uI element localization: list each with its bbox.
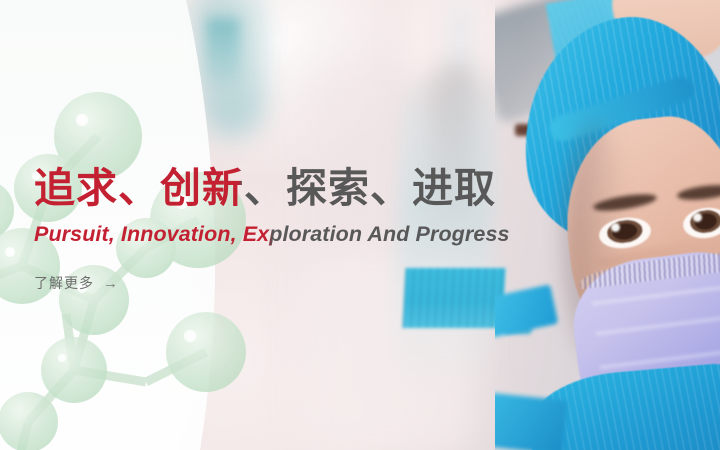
eye-highlight-right xyxy=(693,213,702,222)
eye-highlight-left xyxy=(611,223,620,232)
page-subtitle: Pursuit, Innovation, Exploration And Pro… xyxy=(34,222,594,247)
arrow-right-icon: → xyxy=(103,276,119,291)
hero-content: 追求、创新、探索、进取 Pursuit, Innovation, Explora… xyxy=(34,164,594,293)
hero-banner: 追求、创新、探索、进取 Pursuit, Innovation, Explora… xyxy=(0,0,720,450)
learn-more-link[interactable]: 了解更多 → xyxy=(34,273,119,293)
gown-fold xyxy=(495,391,568,450)
page-title: 追求、创新、探索、进取 xyxy=(34,164,594,212)
learn-more-label: 了解更多 xyxy=(34,273,94,293)
